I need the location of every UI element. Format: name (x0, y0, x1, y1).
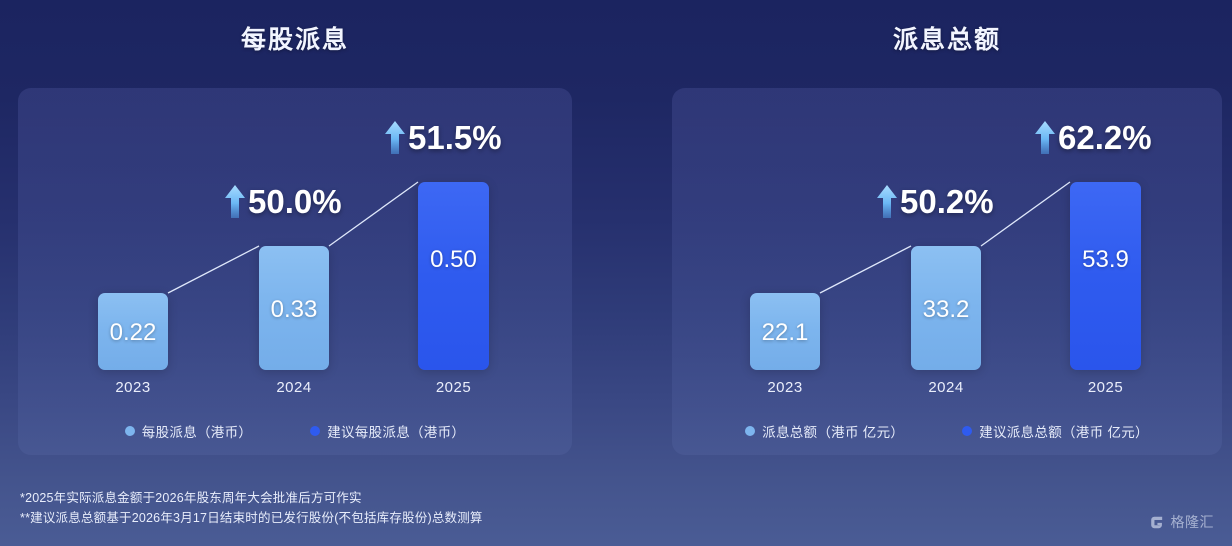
growth-badge-2024: 50.2% (876, 183, 994, 221)
x-axis-label-2025: 2025 (418, 379, 489, 396)
legend-dot-icon (962, 426, 972, 436)
legend-item-proposed[interactable]: 建议派息总额（港币 亿元） (962, 421, 1149, 441)
g-logo-icon (1149, 514, 1166, 531)
watermark: 格隆汇 (1149, 512, 1215, 532)
legend-dot-icon (125, 426, 135, 436)
page-title-per-share-dividend: 每股派息 (18, 20, 572, 56)
page-title-total-dividend: 派息总额 (672, 20, 1222, 56)
growth-value-2025: 62.2% (1058, 119, 1152, 157)
growth-badge-2025: 51.5% (384, 119, 502, 157)
bar-value-2024: 33.2 (911, 296, 981, 324)
legend-label-actual: 每股派息（港币） (142, 421, 252, 441)
footnote-2: **建议派息总额基于2026年3月17日结束时的已发行股份(不包括库存股份)总数… (20, 508, 483, 528)
chart-card-total-dividend: 22.1 33.2 53.9 2023 2024 2025 50.2 (672, 88, 1222, 455)
growth-value-2024: 50.0% (248, 183, 342, 221)
watermark-text: 格隆汇 (1171, 512, 1215, 532)
bar-value-2024: 0.33 (259, 296, 329, 324)
legend-total-dividend: 派息总额（港币 亿元） 建议派息总额（港币 亿元） (672, 421, 1222, 441)
x-axis-label-2023: 2023 (750, 379, 820, 396)
x-axis-label-2024: 2024 (259, 379, 329, 396)
growth-badge-2025: 62.2% (1034, 119, 1152, 157)
growth-value-2024: 50.2% (900, 183, 994, 221)
plot-area-total-dividend: 22.1 33.2 53.9 2023 2024 2025 50.2 (672, 88, 1222, 455)
x-axis-label-2025: 2025 (1070, 379, 1141, 396)
growth-badge-2024: 50.0% (224, 183, 342, 221)
bar-value-2023: 22.1 (750, 319, 820, 347)
legend-label-proposed: 建议派息总额（港币 亿元） (979, 421, 1149, 441)
bar-2023[interactable]: 22.1 (750, 293, 820, 370)
bar-2025[interactable]: 0.50 (418, 182, 489, 370)
legend-label-actual: 派息总额（港币 亿元） (762, 421, 904, 441)
legend-dot-icon (745, 426, 755, 436)
legend-dot-icon (310, 426, 320, 436)
growth-value-2025: 51.5% (408, 119, 502, 157)
legend-item-proposed[interactable]: 建议每股派息（港币） (310, 421, 465, 441)
footnotes: *2025年实际派息金额于2026年股东周年大会批准后方可作实 **建议派息总额… (20, 488, 483, 528)
arrow-up-icon (224, 184, 246, 220)
legend-item-actual[interactable]: 派息总额（港币 亿元） (745, 421, 904, 441)
bar-2024[interactable]: 33.2 (911, 246, 981, 370)
arrow-up-icon (1034, 120, 1056, 156)
legend-item-actual[interactable]: 每股派息（港币） (125, 421, 252, 441)
bar-value-2025: 53.9 (1070, 246, 1141, 274)
arrow-up-icon (876, 184, 898, 220)
arrow-up-icon (384, 120, 406, 156)
chart-titles-row: 每股派息 派息总额 (0, 0, 1232, 88)
legend-per-share-dividend: 每股派息（港币） 建议每股派息（港币） (18, 421, 572, 441)
plot-area-per-share-dividend: 0.22 0.33 0.50 2023 2024 2025 (18, 88, 572, 455)
bar-value-2023: 0.22 (98, 319, 168, 347)
chart-card-per-share-dividend: 0.22 0.33 0.50 2023 2024 2025 (18, 88, 572, 455)
bar-value-2025: 0.50 (418, 246, 489, 274)
bar-2023[interactable]: 0.22 (98, 293, 168, 370)
footnote-1: *2025年实际派息金额于2026年股东周年大会批准后方可作实 (20, 488, 483, 508)
x-axis-label-2023: 2023 (98, 379, 168, 396)
legend-label-proposed: 建议每股派息（港币） (327, 421, 465, 441)
x-axis-label-2024: 2024 (911, 379, 981, 396)
bar-2025[interactable]: 53.9 (1070, 182, 1141, 370)
bar-2024[interactable]: 0.33 (259, 246, 329, 370)
